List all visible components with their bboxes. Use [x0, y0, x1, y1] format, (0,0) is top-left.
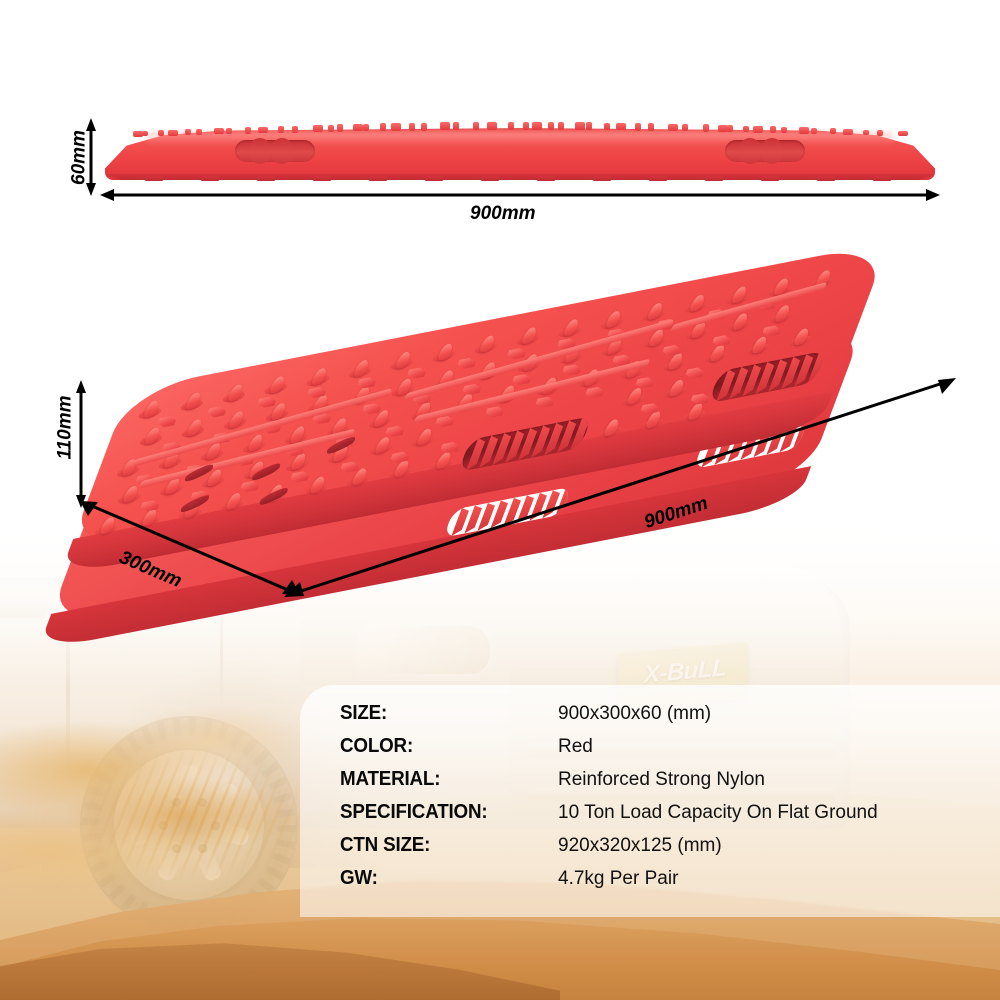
- track-side-stud: [409, 123, 415, 131]
- track-side-stud: [843, 129, 853, 135]
- side-profile-view: [105, 110, 935, 190]
- track-side-stud: [508, 122, 514, 130]
- track-side-stud: [799, 127, 809, 133]
- track-side-base-nub: [313, 176, 331, 181]
- track-side-stud: [245, 127, 251, 133]
- track-side-stud: [830, 128, 836, 134]
- track-side-stud: [604, 123, 610, 131]
- track-side-stud: [421, 123, 427, 131]
- specification-panel: SIZE:900x300x60 (mm)COLOR:RedMATERIAL:Re…: [300, 685, 1000, 917]
- track-side-stud: [487, 122, 497, 130]
- track-side-stud: [743, 126, 749, 133]
- track-side-stud: [226, 128, 232, 134]
- track-side-stud: [548, 122, 554, 130]
- dimension-arrow-900mm-side: [100, 186, 940, 204]
- track-side-stud: [168, 130, 178, 136]
- track-side-base-nub: [537, 176, 555, 181]
- spec-key: CTN SIZE:: [340, 835, 545, 855]
- track-side-stud: [781, 127, 787, 134]
- track-side-stud: [523, 122, 529, 130]
- track-side-stud: [142, 131, 148, 136]
- track-side-stud: [770, 126, 776, 133]
- track-side-stud: [363, 124, 369, 131]
- spec-value: Reinforced Strong Nylon: [558, 770, 765, 789]
- track-side-base-nub: [761, 176, 779, 181]
- track-side-stud: [532, 122, 542, 130]
- spec-key: MATERIAL:: [340, 769, 545, 789]
- track-side-base-nub: [145, 176, 163, 181]
- track-side-base-nub: [593, 176, 611, 181]
- track-side-stud: [635, 123, 641, 131]
- track-side-stud: [380, 123, 386, 131]
- track-side-stud: [337, 124, 343, 131]
- track-side-stud: [258, 127, 268, 134]
- track-side-base-nub: [425, 176, 443, 181]
- spec-value: 900x300x60 (mm): [558, 704, 711, 723]
- track-side-stud: [682, 124, 688, 131]
- track-side-base-nub: [257, 176, 275, 181]
- track-side-stud: [811, 128, 817, 134]
- track-side-stud: [196, 129, 202, 135]
- track-side-stud: [586, 122, 592, 130]
- track-side-stud: [391, 123, 401, 131]
- track-side-stud: [863, 130, 869, 136]
- dimension-arrow-110mm: [68, 380, 94, 508]
- spec-row: SIZE:900x300x60 (mm): [340, 703, 980, 736]
- track-side-stud: [703, 124, 709, 131]
- vehicle-headlight-lens: [374, 634, 472, 664]
- spec-row: SPECIFICATION:10 Ton Load Capacity On Fl…: [340, 802, 980, 835]
- track-side-stud: [158, 130, 164, 135]
- track-side-stud: [575, 122, 585, 130]
- spec-row: GW:4.7kg Per Pair: [340, 868, 980, 901]
- track-side-stud: [453, 122, 459, 130]
- spec-value: 4.7kg Per Pair: [558, 869, 678, 888]
- track-side-base-nub: [369, 176, 387, 181]
- track-side-stud: [668, 124, 678, 132]
- spec-key: COLOR:: [340, 736, 545, 756]
- track-side-base-nub: [649, 176, 667, 181]
- track-side-base-nub: [481, 176, 499, 181]
- track-side-stud: [440, 122, 450, 130]
- track-side-handle-right: [725, 140, 805, 162]
- track-side-stud: [214, 128, 224, 134]
- spec-value: Red: [558, 737, 593, 756]
- track-side-stud: [898, 131, 908, 136]
- track-side-stud: [648, 123, 654, 131]
- spec-value: 920x320x125 (mm): [558, 836, 722, 855]
- track-side-stud: [727, 125, 733, 132]
- track-side-stud: [473, 122, 479, 130]
- specification-rows: SIZE:900x300x60 (mm)COLOR:RedMATERIAL:Re…: [340, 703, 980, 901]
- track-side-stud: [353, 124, 363, 131]
- vehicle-mirror: [0, 584, 48, 618]
- track-side-stud: [616, 123, 626, 131]
- dimension-arrow-900mm-iso: [284, 372, 956, 604]
- track-side-stud: [292, 126, 298, 133]
- dimension-arrow-300mm: [80, 498, 300, 598]
- infographic-canvas: X-BuLL GEOLANDAR: [0, 0, 1000, 1000]
- track-side-stud: [278, 126, 284, 133]
- track-side-handle-left: [235, 140, 315, 162]
- spec-key: SIZE:: [340, 703, 545, 723]
- track-side-stud: [558, 122, 564, 130]
- spec-row: CTN SIZE:920x320x125 (mm): [340, 835, 980, 868]
- spec-value: 10 Ton Load Capacity On Flat Ground: [558, 803, 878, 822]
- track-side-base-nub: [873, 176, 891, 181]
- track-side-stud: [877, 130, 883, 136]
- dimension-label-900mm-side: 900mm: [470, 204, 536, 223]
- spec-key: SPECIFICATION:: [340, 802, 545, 822]
- track-side-base-nub: [201, 176, 219, 181]
- track-side-stud: [185, 129, 191, 135]
- track-side-stud: [753, 126, 763, 133]
- track-side-base-nub: [817, 176, 835, 181]
- spec-key: GW:: [340, 868, 545, 888]
- track-side-base-nub: [705, 176, 723, 181]
- spec-row: COLOR:Red: [340, 736, 980, 769]
- track-side-stud: [328, 125, 334, 132]
- dimension-arrow-60mm: [78, 118, 104, 196]
- spec-row: MATERIAL:Reinforced Strong Nylon: [340, 769, 980, 802]
- track-side-base-edge: [105, 174, 935, 180]
- track-side-stud: [313, 125, 323, 132]
